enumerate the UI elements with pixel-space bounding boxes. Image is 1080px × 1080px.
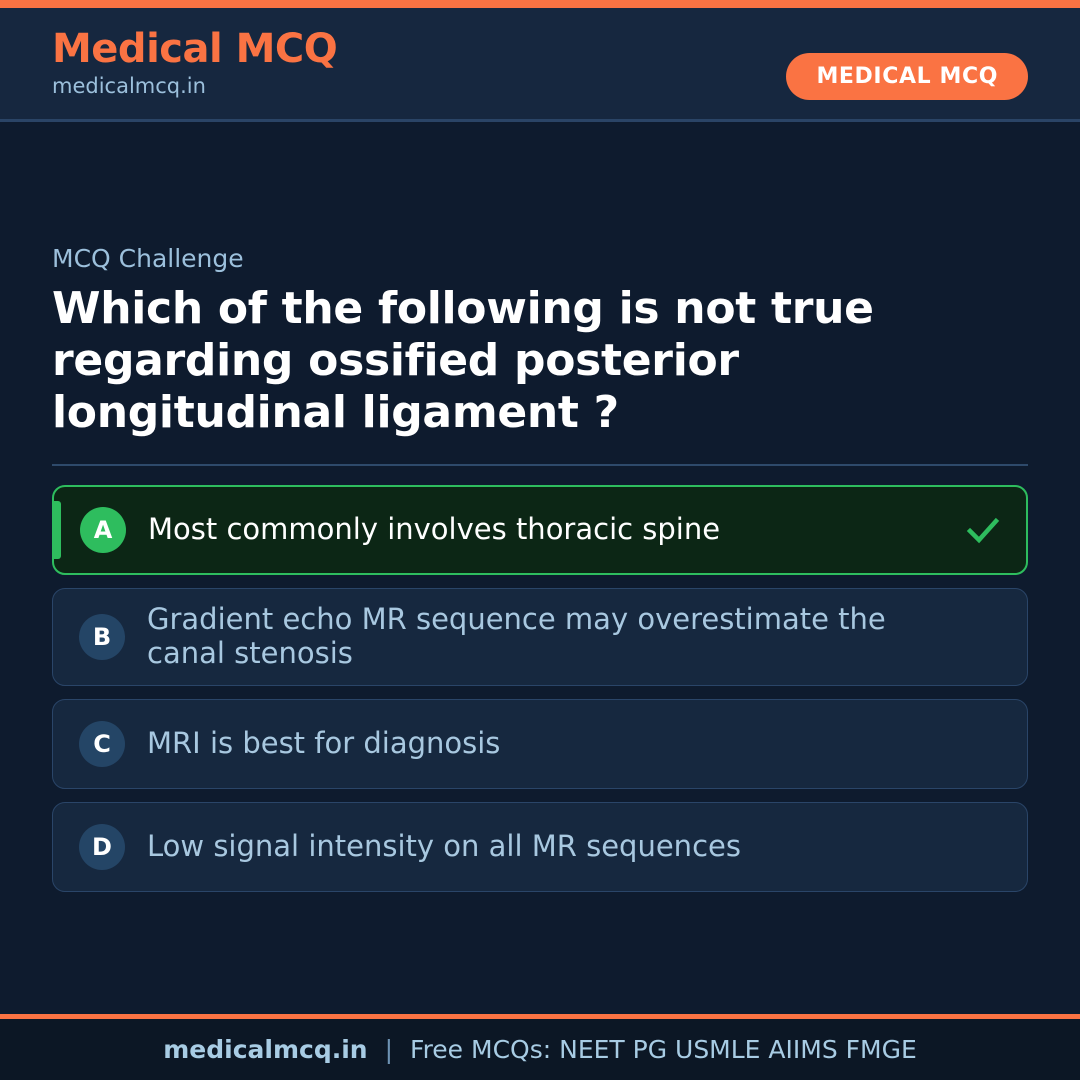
question-text: Which of the following is not true regar… — [52, 283, 1028, 439]
option-a[interactable]: A Most commonly involves thoracic spine — [52, 485, 1028, 575]
brand: Medical MCQ medicalmcq.in — [52, 28, 337, 98]
option-c-text: MRI is best for diagnosis — [147, 727, 963, 761]
footer-site: medicalmcq.in — [163, 1035, 367, 1064]
question-eyebrow: MCQ Challenge — [52, 244, 1028, 274]
footer: medicalmcq.in | Free MCQs: NEET PG USMLE… — [0, 1014, 1080, 1080]
header-badge: MEDICAL MCQ — [786, 53, 1028, 100]
header: Medical MCQ medicalmcq.in MEDICAL MCQ — [0, 8, 1080, 122]
footer-separator: | — [385, 1035, 393, 1064]
question-block: MCQ Challenge Which of the following is … — [52, 244, 1028, 439]
option-b[interactable]: B Gradient echo MR sequence may overesti… — [52, 588, 1028, 686]
brand-subtitle: medicalmcq.in — [52, 75, 337, 98]
option-c[interactable]: C MRI is best for diagnosis — [52, 699, 1028, 789]
option-d-letter-badge: D — [79, 824, 125, 870]
option-b-text: Gradient echo MR sequence may overestima… — [147, 603, 963, 671]
check-icon — [962, 509, 1004, 551]
option-b-letter-badge: B — [79, 614, 125, 660]
content-area: MCQ Challenge Which of the following is … — [0, 122, 1080, 1014]
options-list: A Most commonly involves thoracic spine … — [52, 485, 1028, 892]
question-divider — [52, 464, 1028, 466]
brand-title: Medical MCQ — [52, 28, 337, 70]
option-c-letter-badge: C — [79, 721, 125, 767]
footer-exams: Free MCQs: NEET PG USMLE AIIMS FMGE — [410, 1035, 917, 1064]
mcq-slide: Medical MCQ medicalmcq.in MEDICAL MCQ MC… — [0, 0, 1080, 1080]
correct-accent-bar — [54, 501, 61, 559]
option-d[interactable]: D Low signal intensity on all MR sequenc… — [52, 802, 1028, 892]
option-a-text: Most commonly involves thoracic spine — [148, 513, 962, 547]
option-a-letter-badge: A — [80, 507, 126, 553]
top-accent-bar — [0, 0, 1080, 8]
option-d-text: Low signal intensity on all MR sequences — [147, 830, 963, 864]
footer-text: medicalmcq.in | Free MCQs: NEET PG USMLE… — [163, 1035, 917, 1064]
